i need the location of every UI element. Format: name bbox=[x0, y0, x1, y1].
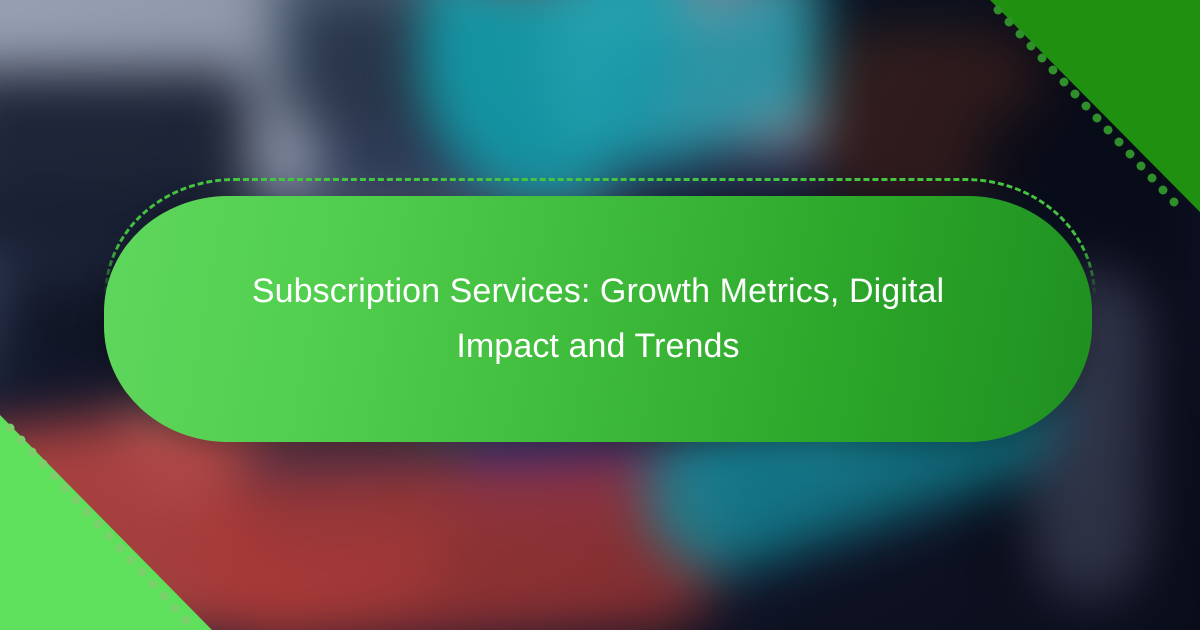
corner-decoration-top-right bbox=[990, 0, 1200, 215]
title-card: Subscription Services: Growth Metrics, D… bbox=[104, 196, 1092, 442]
green-triangle-bottom-left-icon bbox=[0, 415, 215, 630]
corner-decoration-bottom-left bbox=[0, 415, 215, 630]
banner-canvas: Subscription Services: Growth Metrics, D… bbox=[0, 0, 1200, 630]
page-title: Subscription Services: Growth Metrics, D… bbox=[218, 264, 978, 374]
green-triangle-top-right-icon bbox=[990, 0, 1200, 215]
